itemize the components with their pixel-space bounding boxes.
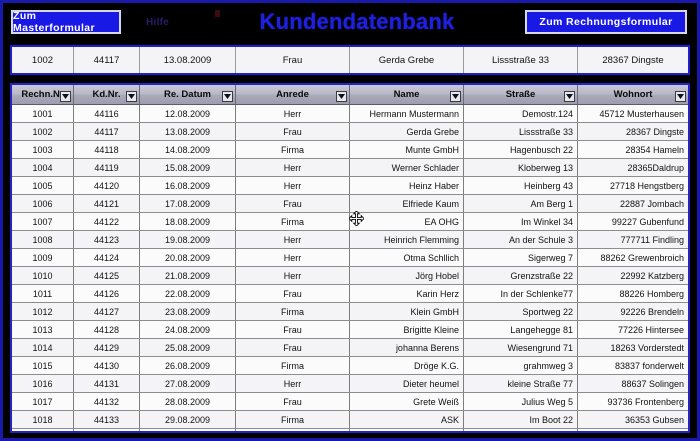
table-row[interactable]: 10114412622.08.2009FrauKarin HerzIn der … [12, 285, 688, 303]
table-cell[interactable]: 20.08.2009 [140, 249, 236, 266]
table-cell[interactable]: EA OHG [350, 213, 464, 230]
table-cell[interactable]: Jörg Hobel [350, 267, 464, 284]
table-cell[interactable]: Sascha Heinemann [350, 429, 464, 433]
current-record-cell[interactable]: 1002 [12, 47, 74, 73]
table-cell[interactable]: 22.08.2009 [140, 285, 236, 302]
table-cell[interactable]: 44134 [74, 429, 140, 433]
table-cell[interactable]: 1003 [12, 141, 74, 158]
table-cell[interactable]: Firma [236, 411, 350, 428]
column-header-label: Straße [506, 89, 536, 100]
column-header-wohnort[interactable]: Wohnort [578, 85, 688, 104]
table-cell[interactable]: 21.08.2009 [140, 267, 236, 284]
table-cell[interactable]: Herr [236, 249, 350, 266]
table-cell[interactable]: Wiesengrund 71 [464, 339, 578, 356]
table-cell[interactable]: Dröge K.G. [350, 357, 464, 374]
table-cell[interactable]: 22887 Jombach [578, 195, 688, 212]
table-cell[interactable]: Im Winkel 34 [464, 213, 578, 230]
table-cell[interactable]: In der Schlenke77 [464, 285, 578, 302]
table-cell[interactable]: 44133 [74, 411, 140, 428]
go-to-invoice-form-button[interactable]: Zum Rechnungsformular [525, 10, 687, 34]
table-cell[interactable]: 1015 [12, 357, 74, 374]
table-row[interactable]: 10174413228.08.2009FrauGrete WeißJulius … [12, 393, 688, 411]
table-cell[interactable]: 37992 Sachsen [578, 429, 688, 433]
table-cell[interactable]: 18263 Vorderstedt [578, 339, 688, 356]
table-cell[interactable]: 1014 [12, 339, 74, 356]
table-cell[interactable]: 14.08.2009 [140, 141, 236, 158]
table-cell[interactable]: Julius Weg 5 [464, 393, 578, 410]
go-to-master-form-button[interactable]: Zum Masterformular [11, 10, 121, 34]
chevron-down-icon[interactable] [450, 91, 461, 102]
current-record-cell[interactable]: 28367 Dingste [578, 47, 688, 73]
table-cell[interactable]: Firma [236, 303, 350, 320]
table-cell[interactable]: Munte GmbH [350, 141, 464, 158]
table-cell[interactable]: 1008 [12, 231, 74, 248]
column-header-re-datum[interactable]: Re. Datum [140, 85, 236, 104]
table-cell[interactable]: kleine Straße 77 [464, 375, 578, 392]
table-cell[interactable]: Herr [236, 105, 350, 122]
current-record-cell[interactable]: Lissstraße 33 [464, 47, 578, 73]
table-cell[interactable]: 83837 fonderwelt [578, 357, 688, 374]
table-cell[interactable]: 44121 [74, 195, 140, 212]
table-cell[interactable]: Herr [236, 231, 350, 248]
table-cell[interactable]: 24.08.2009 [140, 321, 236, 338]
column-header-anrede[interactable]: Anrede [236, 85, 350, 104]
table-cell[interactable]: 1006 [12, 195, 74, 212]
table-cell[interactable]: Sportweg 22 [464, 303, 578, 320]
chevron-down-icon[interactable] [60, 91, 71, 102]
chevron-down-icon[interactable] [336, 91, 347, 102]
table-cell[interactable]: johanna Berens [350, 339, 464, 356]
table-cell[interactable]: Kloberweg 13 [464, 159, 578, 176]
current-record-row: 10024411713.08.2009FrauGerda GrebeLissst… [12, 47, 688, 73]
table-row[interactable]: 10124412723.08.2009FirmaKlein GmbHSportw… [12, 303, 688, 321]
table-row[interactable]: 10104412521.08.2009HerrJörg HobelGrenzst… [12, 267, 688, 285]
table-cell[interactable]: 44132 [74, 393, 140, 410]
table-cell[interactable]: 28.08.2009 [140, 393, 236, 410]
table-row[interactable]: 10084412319.08.2009HerrHeinrich Flemming… [12, 231, 688, 249]
table-cell[interactable]: 1001 [12, 105, 74, 122]
table-row[interactable]: 10184413329.08.2009FirmaASKIm Boot 22363… [12, 411, 688, 429]
table-cell[interactable]: 1019 [12, 429, 74, 433]
table-cell[interactable]: Firma [236, 213, 350, 230]
table-cell[interactable]: Frau [236, 339, 350, 356]
page-title: Kundendatenbank [247, 7, 467, 37]
table-row[interactable]: 10144412925.08.2009Fraujohanna BerensWie… [12, 339, 688, 357]
table-cell[interactable]: 44118 [74, 141, 140, 158]
table-cell[interactable]: 28367 Dingste [578, 123, 688, 140]
table-cell[interactable]: Große Alle 53 [464, 429, 578, 433]
table-cell[interactable]: 88637 Solingen [578, 375, 688, 392]
table-cell[interactable]: 1005 [12, 177, 74, 194]
table-cell[interactable]: Otma Schllich [350, 249, 464, 266]
table-cell[interactable]: Firma [236, 357, 350, 374]
table-cell[interactable]: Herr [236, 159, 350, 176]
table-cell[interactable]: Heinberg 43 [464, 177, 578, 194]
column-header-stra-e[interactable]: Straße [464, 85, 578, 104]
table-cell[interactable]: 44122 [74, 213, 140, 230]
table-row[interactable]: 10014411612.08.2009HerrHermann Musterman… [12, 105, 688, 123]
table-cell[interactable]: Sigerweg 7 [464, 249, 578, 266]
column-header-label: Rechn.Nr [21, 89, 63, 100]
table-cell[interactable]: 45712 Musterhausen [578, 105, 688, 122]
table-cell[interactable]: 13.08.2009 [140, 123, 236, 140]
table-cell[interactable]: 92226 Brendeln [578, 303, 688, 320]
table-cell[interactable]: 1004 [12, 159, 74, 176]
table-cell[interactable]: 1016 [12, 375, 74, 392]
top-toolbar: Zum Masterformular Hilfe Kundendatenbank… [3, 3, 697, 41]
table-row[interactable]: 10024411713.08.2009FrauGerda GrebeLissst… [12, 123, 688, 141]
table-cell[interactable]: Herr [236, 375, 350, 392]
table-cell[interactable]: Frau [236, 123, 350, 140]
table-cell[interactable]: Herr [236, 177, 350, 194]
column-header-label: Wohnort [614, 89, 653, 100]
table-cell[interactable]: Frau [236, 195, 350, 212]
table-row[interactable]: 10154413026.08.2009FirmaDröge K.G.grahmw… [12, 357, 688, 375]
table-cell[interactable]: 17.08.2009 [140, 195, 236, 212]
table-cell[interactable]: Heinz Haber [350, 177, 464, 194]
table-cell[interactable]: 44116 [74, 105, 140, 122]
table-row[interactable]: 10194413430.08.2009HerrSascha HeinemannG… [12, 429, 688, 433]
current-record-cell[interactable]: 44117 [74, 47, 140, 73]
table-cell[interactable]: Herr [236, 267, 350, 284]
grid-body[interactable]: 10014411612.08.2009HerrHermann Musterman… [12, 105, 688, 433]
current-record-cell[interactable]: Frau [236, 47, 350, 73]
table-cell[interactable]: 16.08.2009 [140, 177, 236, 194]
table-cell[interactable]: 44123 [74, 231, 140, 248]
table-cell[interactable]: Langehegge 81 [464, 321, 578, 338]
table-cell[interactable]: Hermann Mustermann [350, 105, 464, 122]
table-cell[interactable]: Grenzstraße 22 [464, 267, 578, 284]
table-cell[interactable]: 28354 Hameln [578, 141, 688, 158]
table-cell[interactable]: grahmweg 3 [464, 357, 578, 374]
table-cell[interactable]: 88226 Homberg [578, 285, 688, 302]
table-cell[interactable]: 1011 [12, 285, 74, 302]
table-cell[interactable]: 1018 [12, 411, 74, 428]
table-cell[interactable]: 88262 Grewenbroich [578, 249, 688, 266]
column-header-label: Name [394, 89, 420, 100]
table-cell[interactable]: 1009 [12, 249, 74, 266]
table-cell[interactable]: 1013 [12, 321, 74, 338]
table-cell[interactable]: Heinrich Flemming [350, 231, 464, 248]
table-cell[interactable]: 44125 [74, 267, 140, 284]
decorative-marker [215, 10, 220, 17]
table-cell[interactable]: Frau [236, 285, 350, 302]
table-cell[interactable]: 99227 Gubenfund [578, 213, 688, 230]
table-row[interactable]: 10044411915.08.2009HerrWerner SchladerKl… [12, 159, 688, 177]
chevron-down-icon[interactable] [126, 91, 137, 102]
table-cell[interactable]: 44126 [74, 285, 140, 302]
table-cell[interactable]: 15.08.2009 [140, 159, 236, 176]
table-cell[interactable]: 18.08.2009 [140, 213, 236, 230]
table-cell[interactable]: Am Berg 1 [464, 195, 578, 212]
table-cell[interactable]: 1017 [12, 393, 74, 410]
current-record-cell[interactable]: 13.08.2009 [140, 47, 236, 73]
table-cell[interactable]: An der Schule 3 [464, 231, 578, 248]
table-cell[interactable]: 28365Daldrup [578, 159, 688, 176]
column-header-label: Anrede [276, 89, 309, 100]
table-cell[interactable]: 44117 [74, 123, 140, 140]
table-cell[interactable]: 44128 [74, 321, 140, 338]
table-cell[interactable]: Karin Herz [350, 285, 464, 302]
table-cell[interactable]: 27718 Hengstberg [578, 177, 688, 194]
table-cell[interactable]: 19.08.2009 [140, 231, 236, 248]
table-cell[interactable]: 1010 [12, 267, 74, 284]
table-cell[interactable]: 23.08.2009 [140, 303, 236, 320]
table-cell[interactable]: Dieter heumel [350, 375, 464, 392]
table-row[interactable]: 10054412016.08.2009HerrHeinz HaberHeinbe… [12, 177, 688, 195]
column-header-kd-nr[interactable]: Kd.Nr. [74, 85, 140, 104]
table-cell[interactable]: Frau [236, 393, 350, 410]
table-cell[interactable]: ASK [350, 411, 464, 428]
table-cell[interactable]: 36353 Gubsen [578, 411, 688, 428]
table-row[interactable]: 10034411814.08.2009FirmaMunte GmbHHagenb… [12, 141, 688, 159]
customer-data-grid[interactable]: Rechn.NrKd.Nr.Re. DatumAnredeNameStraßeW… [10, 83, 690, 433]
table-cell[interactable]: 44129 [74, 339, 140, 356]
chevron-down-icon[interactable] [564, 91, 575, 102]
table-cell[interactable]: Frau [236, 321, 350, 338]
table-cell[interactable]: 12.08.2009 [140, 105, 236, 122]
table-row[interactable]: 10074412218.08.2009FirmaEA OHGIm Winkel … [12, 213, 688, 231]
table-cell[interactable]: 29.08.2009 [140, 411, 236, 428]
table-cell[interactable]: Im Boot 22 [464, 411, 578, 428]
column-header-rechn-nr[interactable]: Rechn.Nr [12, 85, 74, 104]
current-record-cell[interactable]: Gerda Grebe [350, 47, 464, 73]
column-header-label: Kd.Nr. [93, 89, 121, 100]
current-record-panel: 10024411713.08.2009FrauGerda GrebeLissst… [10, 45, 690, 75]
table-cell[interactable]: Firma [236, 141, 350, 158]
table-cell[interactable]: 44119 [74, 159, 140, 176]
table-cell[interactable]: Demostr.124 [464, 105, 578, 122]
table-cell[interactable]: 30.08.2009 [140, 429, 236, 433]
table-cell[interactable]: 1007 [12, 213, 74, 230]
table-cell[interactable]: Lissstraße 33 [464, 123, 578, 140]
table-cell[interactable]: Elfriede Kaum [350, 195, 464, 212]
table-cell[interactable]: 1002 [12, 123, 74, 140]
table-cell[interactable]: 27.08.2009 [140, 375, 236, 392]
table-cell[interactable]: 1012 [12, 303, 74, 320]
table-cell[interactable]: Werner Schlader [350, 159, 464, 176]
table-cell[interactable]: 77226 Hintersee [578, 321, 688, 338]
table-cell[interactable]: Grete Weiß [350, 393, 464, 410]
table-cell[interactable]: Klein GmbH [350, 303, 464, 320]
chevron-down-icon[interactable] [675, 91, 686, 102]
grid-header-row: Rechn.NrKd.Nr.Re. DatumAnredeNameStraßeW… [12, 85, 688, 105]
table-cell[interactable]: 22992 Katzberg [578, 267, 688, 284]
table-row[interactable]: 10134412824.08.2009FrauBrigitte KleineLa… [12, 321, 688, 339]
table-row[interactable]: 10164413127.08.2009HerrDieter heumelklei… [12, 375, 688, 393]
table-cell[interactable]: 44127 [74, 303, 140, 320]
table-cell[interactable]: Brigitte Kleine [350, 321, 464, 338]
chevron-down-icon[interactable] [222, 91, 233, 102]
kundendatenbank-window: Zum Masterformular Hilfe Kundendatenbank… [0, 0, 700, 441]
table-cell[interactable]: 44131 [74, 375, 140, 392]
table-row[interactable]: 10064412117.08.2009FrauElfriede KaumAm B… [12, 195, 688, 213]
table-cell[interactable]: 777711 Findling [578, 231, 688, 248]
table-cell[interactable]: 44130 [74, 357, 140, 374]
table-cell[interactable]: 93736 Frontenberg [578, 393, 688, 410]
table-cell[interactable]: Gerda Grebe [350, 123, 464, 140]
table-cell[interactable]: 26.08.2009 [140, 357, 236, 374]
help-link[interactable]: Hilfe [146, 17, 169, 28]
table-row[interactable]: 10094412420.08.2009HerrOtma SchllichSige… [12, 249, 688, 267]
table-cell[interactable]: 44120 [74, 177, 140, 194]
table-cell[interactable]: Hagenbusch 22 [464, 141, 578, 158]
table-cell[interactable]: Herr [236, 429, 350, 433]
table-cell[interactable]: 44124 [74, 249, 140, 266]
column-header-label: Re. Datum [164, 89, 211, 100]
column-header-name[interactable]: Name [350, 85, 464, 104]
table-cell[interactable]: 25.08.2009 [140, 339, 236, 356]
